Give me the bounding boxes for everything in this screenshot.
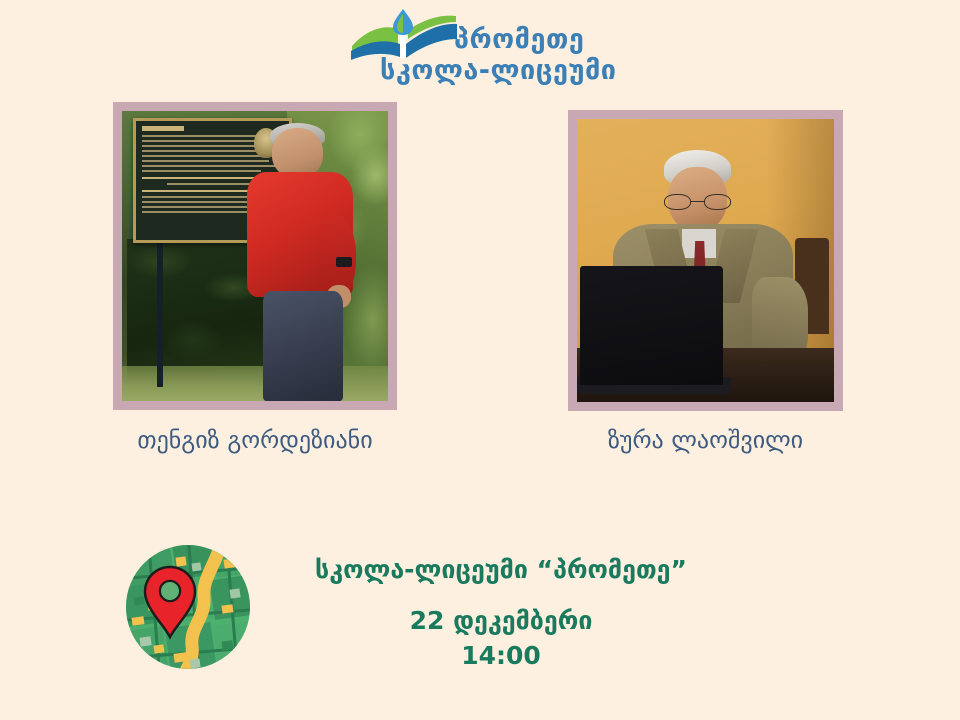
event-venue: სკოლა-ლიცეუმი “პრომეთე” [266, 556, 736, 585]
logo-block: პრომეთე სკოლა-ლიცეუმი [0, 6, 960, 98]
plaque-post [157, 242, 164, 387]
event-date: 22 დეკემბერი [266, 607, 736, 636]
speaker-left-head [272, 128, 323, 177]
logo-word-prometheus: პრომეთე [454, 26, 584, 53]
speaker-photo-frame-left [113, 102, 397, 410]
event-details: სკოლა-ლიცეუმი “პრომეთე” 22 დეკემბერი 14:… [266, 556, 736, 670]
speaker-name-left: თენგიზ გორდეზიანი [113, 428, 397, 452]
speaker-name-right: ზურა ლაოშვილი [568, 428, 843, 452]
speaker-left-trousers [263, 291, 343, 401]
speaker-photo-frame-right [568, 110, 843, 411]
speaker-photo-left [122, 111, 388, 401]
event-time: 14:00 [266, 642, 736, 671]
open-book-flame-logo-icon [350, 8, 458, 62]
eyeglasses-icon [664, 194, 731, 210]
map-location-pin-icon [126, 545, 250, 669]
logo-word-school-lyceum: სკოლა-ლიცეუმი [380, 57, 617, 84]
laptop-screen [580, 266, 724, 385]
wristwatch [336, 257, 352, 267]
speaker-photo-right [577, 119, 834, 402]
